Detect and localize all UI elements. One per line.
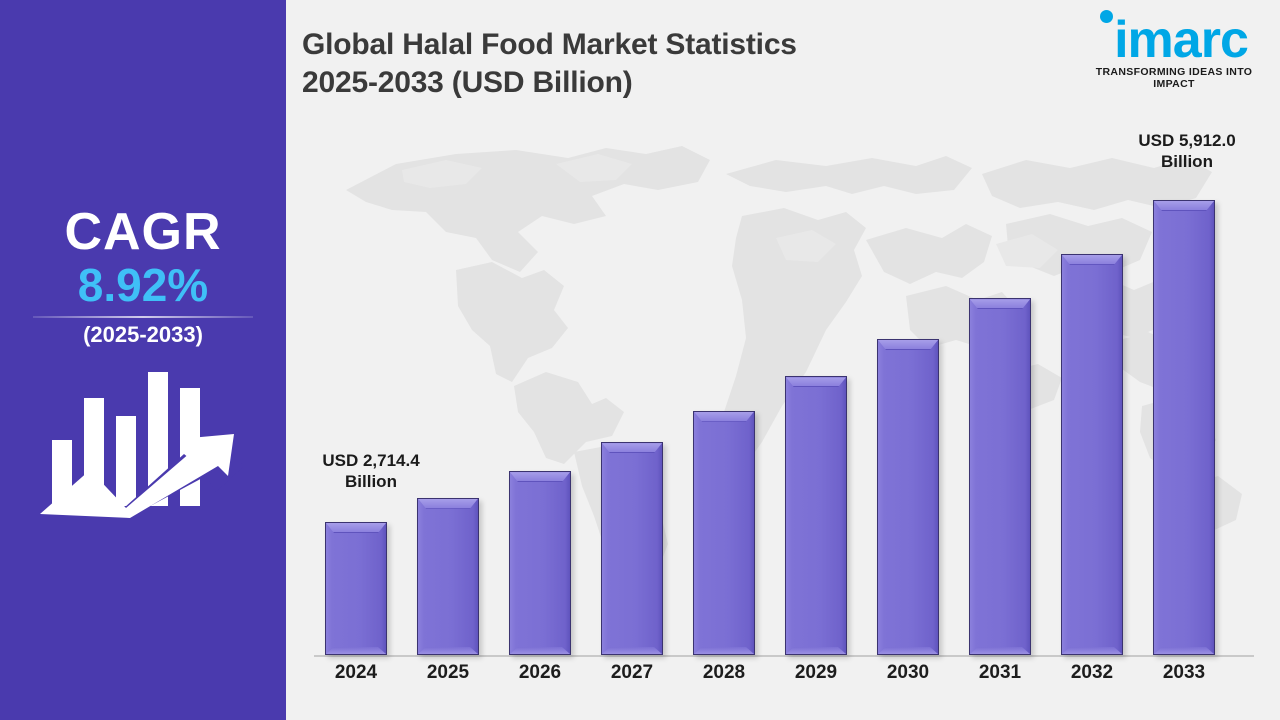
x-label-2027: 2027: [601, 662, 663, 684]
x-label-2033: 2033: [1153, 662, 1215, 684]
bar-2031[interactable]: [969, 298, 1031, 655]
bar-2030[interactable]: [877, 339, 939, 655]
bar-bottom-bevel: [510, 647, 570, 654]
bar-top-bevel: [694, 412, 754, 422]
x-label-2032: 2032: [1061, 662, 1123, 684]
x-label-2024: 2024: [325, 662, 387, 684]
bar-top-bevel: [970, 299, 1030, 309]
cagr-divider: [33, 316, 253, 318]
bar-top-bevel: [510, 472, 570, 482]
bar-bottom-bevel: [878, 647, 938, 654]
bar-bottom-bevel: [1154, 647, 1214, 654]
bar-top-bevel: [602, 443, 662, 453]
bar-top-bevel: [786, 377, 846, 387]
bar-top-bevel: [878, 340, 938, 350]
bar-2029[interactable]: [785, 376, 847, 655]
bar-2033[interactable]: [1153, 200, 1215, 655]
callout-last-line1: USD 5,912.0: [1112, 130, 1262, 151]
bar-2027[interactable]: [601, 442, 663, 655]
callout-first-value: USD 2,714.4 Billion: [296, 450, 446, 493]
bar-bottom-bevel: [970, 647, 1030, 654]
bar-bottom-bevel: [418, 647, 478, 654]
bar-top-bevel: [418, 499, 478, 509]
bar-top-bevel: [1062, 255, 1122, 265]
chart-baseline: [314, 655, 1254, 657]
bar-top-bevel: [1154, 201, 1214, 211]
x-label-2025: 2025: [417, 662, 479, 684]
bar-bottom-bevel: [602, 647, 662, 654]
callout-last-value: USD 5,912.0 Billion: [1112, 130, 1262, 173]
infographic-canvas: CAGR 8.92% (2025-2033): [0, 0, 1280, 720]
chart-area: Global Halal Food Market Statistics 2025…: [286, 0, 1280, 720]
bar-bottom-bevel: [1062, 647, 1122, 654]
cagr-label: CAGR: [0, 206, 286, 258]
bar-bottom-bevel: [694, 647, 754, 654]
bar-2032[interactable]: [1061, 254, 1123, 655]
bar-2026[interactable]: [509, 471, 571, 655]
bar-2025[interactable]: [417, 498, 479, 655]
x-label-2029: 2029: [785, 662, 847, 684]
bar-top-bevel: [326, 523, 386, 533]
bar-bottom-bevel: [326, 647, 386, 654]
x-label-2031: 2031: [969, 662, 1031, 684]
bar-chart: USD 2,714.4 Billion USD 5,912.0 Billion …: [286, 0, 1280, 720]
callout-first-line1: USD 2,714.4: [296, 450, 446, 471]
bar-bottom-bevel: [786, 647, 846, 654]
bar-chart-growth-arrow-icon: [38, 358, 248, 518]
x-label-2030: 2030: [877, 662, 939, 684]
bar-2028[interactable]: [693, 411, 755, 655]
x-label-2028: 2028: [693, 662, 755, 684]
callout-first-line2: Billion: [296, 471, 446, 492]
x-label-2026: 2026: [509, 662, 571, 684]
bar-2024[interactable]: [325, 522, 387, 655]
cagr-period: (2025-2033): [0, 320, 286, 351]
cagr-value: 8.92%: [0, 262, 286, 308]
cagr-sidebar: CAGR 8.92% (2025-2033): [0, 0, 286, 720]
callout-last-line2: Billion: [1112, 151, 1262, 172]
